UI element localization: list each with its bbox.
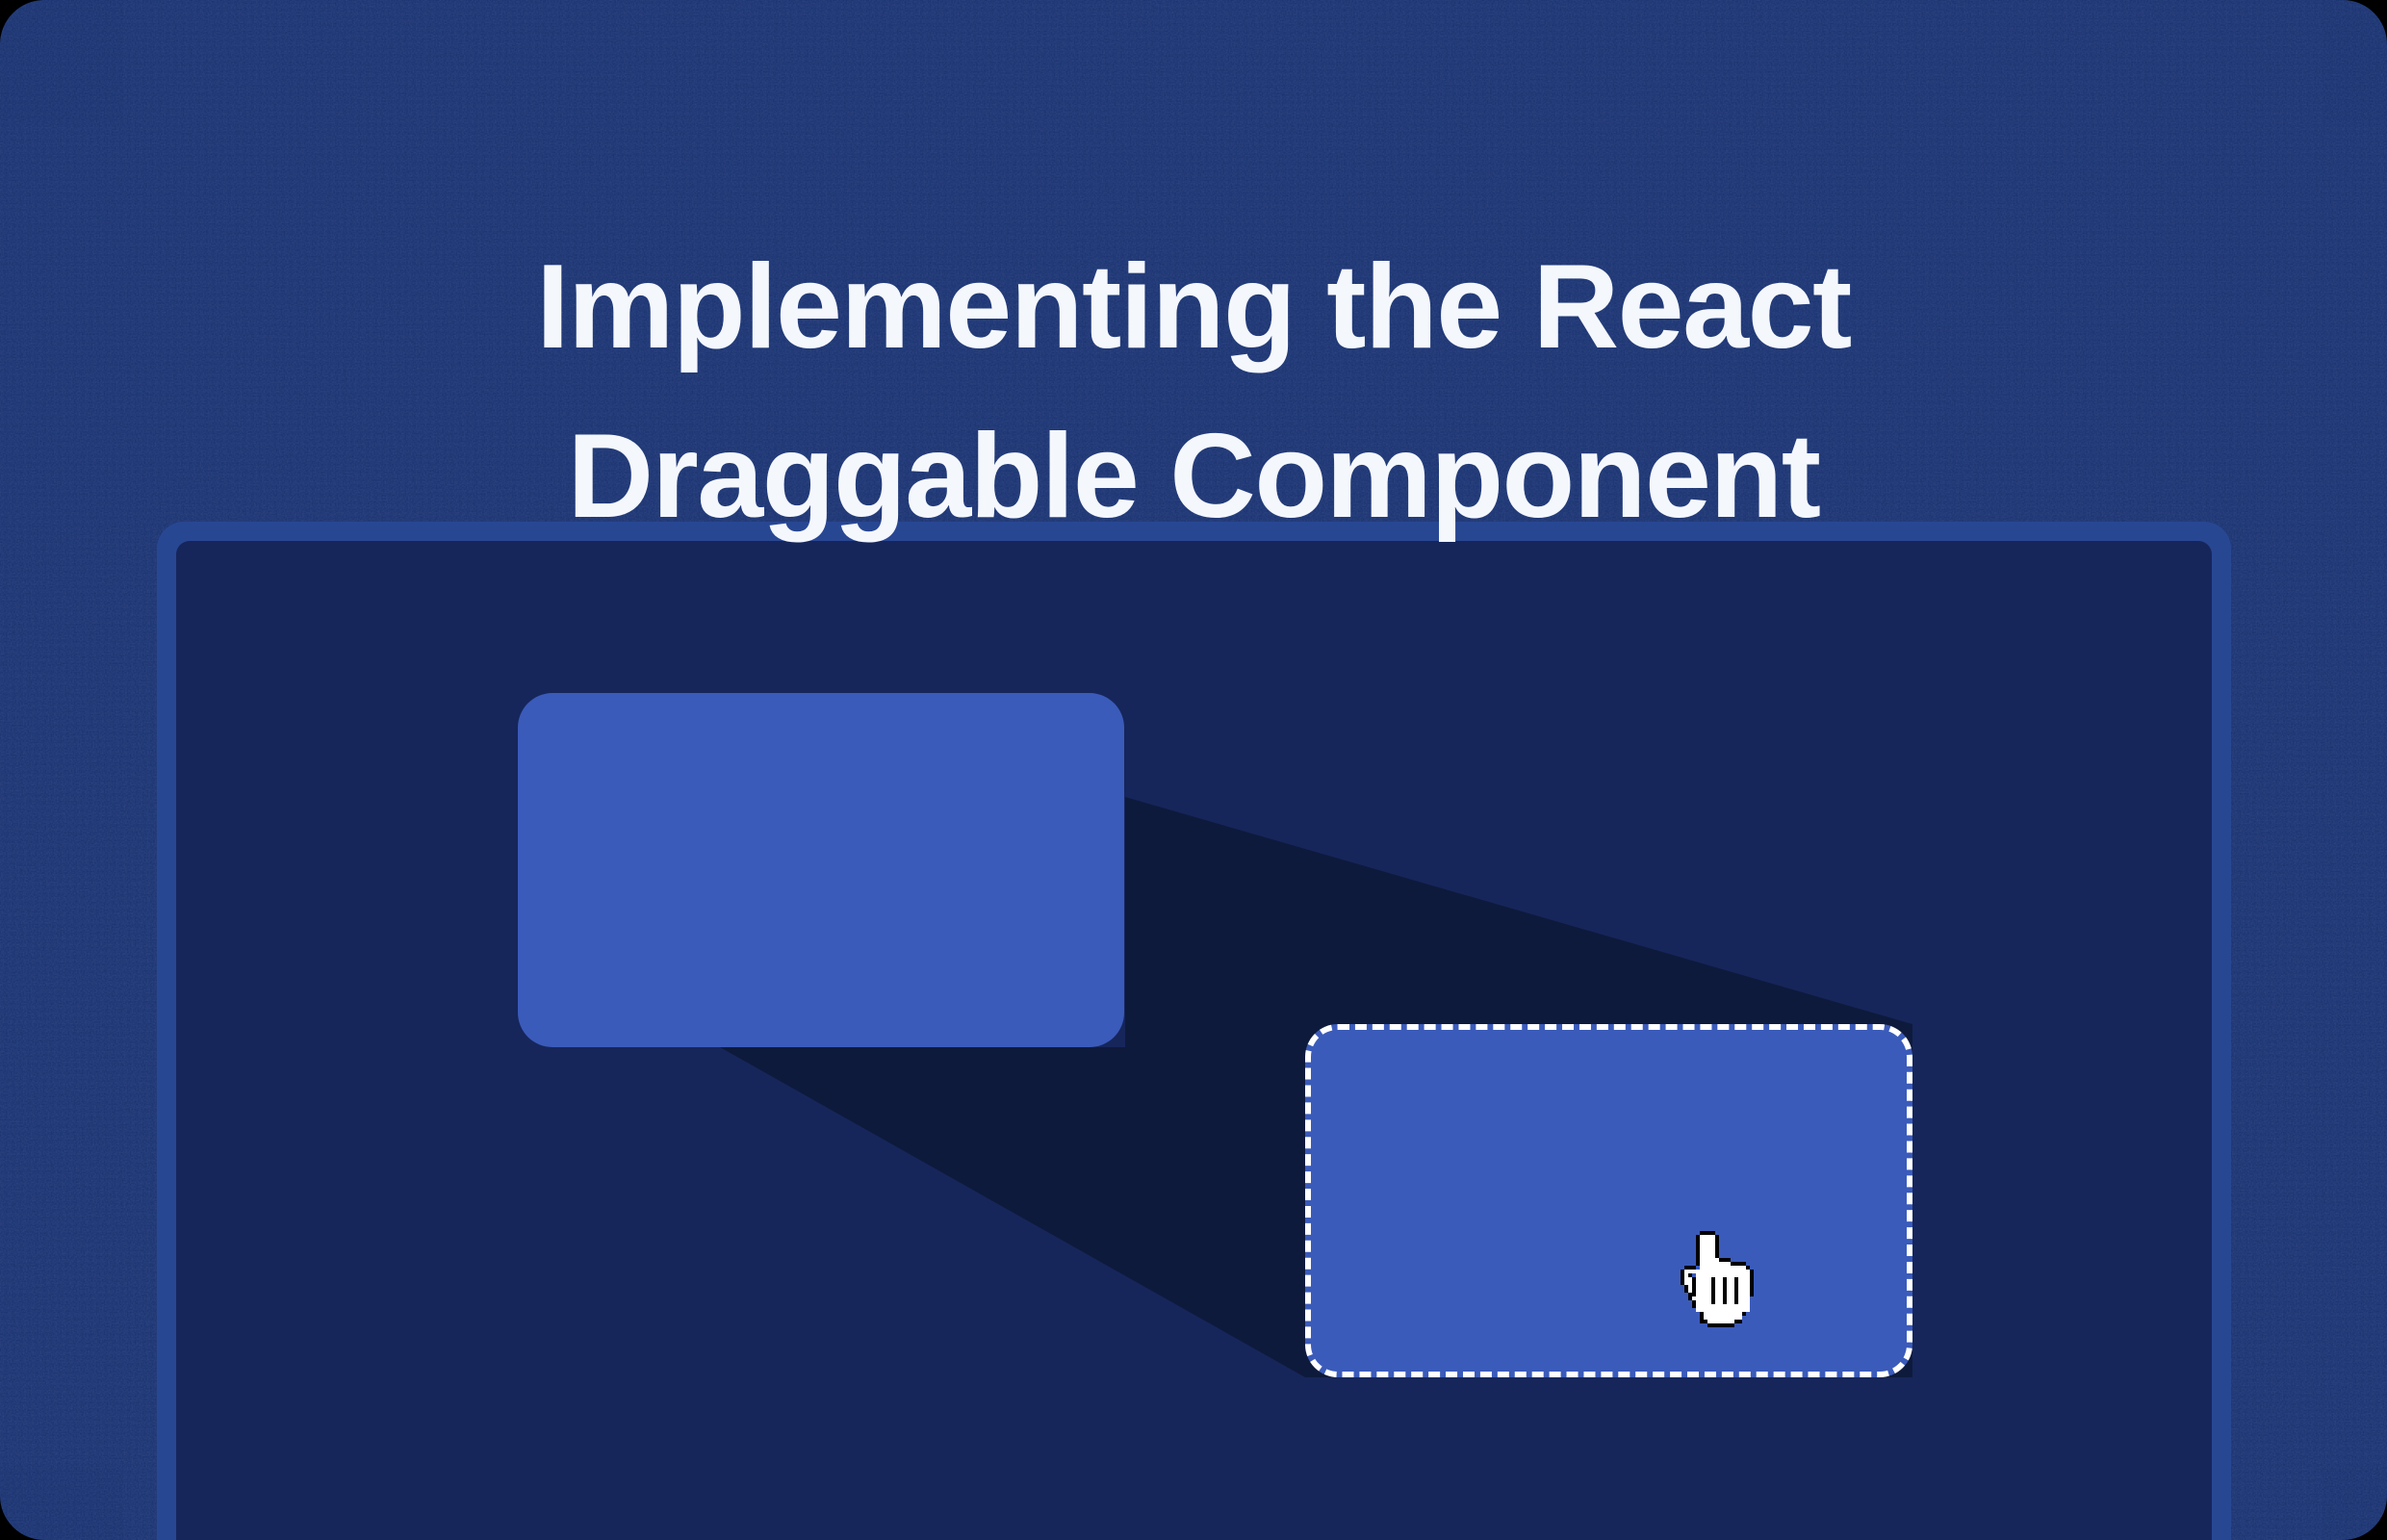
draggable-demo-canvas[interactable]	[176, 541, 2212, 1540]
illustration-canvas: Implementing the React Draggable Compone…	[0, 0, 2387, 1540]
draggable-box-dragging[interactable]	[1305, 1024, 1912, 1377]
draggable-box-origin[interactable]	[518, 693, 1124, 1047]
draggable-demo-panel	[157, 522, 2231, 1540]
page-title: Implementing the React Draggable Compone…	[0, 222, 2387, 561]
